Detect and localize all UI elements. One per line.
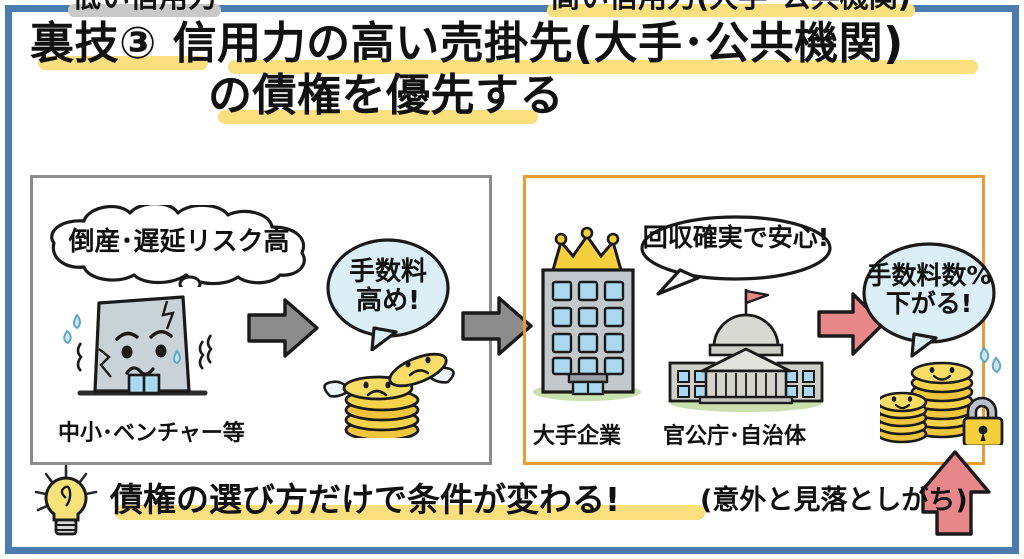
large-corporation-caption: 大手企業	[533, 418, 621, 450]
sad-coins-with-wings-icon	[320, 338, 460, 438]
high-fee-bubble-text: 手数料 高め!	[322, 258, 454, 316]
title-line-2: の債権を優先する	[208, 70, 990, 122]
page-title: 裏技③ 信用力の高い売掛先(大手･公共機関) の債権を優先する	[30, 18, 990, 122]
title-line-1: 裏技③ 信用力の高い売掛先(大手･公共機関)	[30, 18, 990, 70]
reliable-collection-bubble-text: 回収確実で安心!	[636, 224, 836, 252]
low-credit-thought-text: 倒産･遅延リスク高	[54, 228, 304, 257]
lightbulb-icon	[28, 462, 106, 540]
footer-note: (意外と見落としがち)	[700, 478, 968, 517]
small-company-caption: 中小･ベンチャー等	[58, 415, 245, 447]
small-company-building-icon	[55, 285, 220, 405]
happy-coins-with-lock-icon	[880, 340, 1008, 445]
government-building-caption: 官公庁･自治体	[663, 418, 806, 450]
footer-text: 債権の選び方だけで条件が変わる!	[110, 473, 620, 521]
large-corporation-building-icon	[527, 224, 649, 414]
fee-drop-bubble-text: 手数料数% 下がる!	[858, 262, 1000, 318]
infographic-canvas: 裏技③ 信用力の高い売掛先(大手･公共機関) の債権を優先する 低い信用力 倒産…	[0, 0, 1024, 559]
low-credit-panel-header: 低い信用力	[62, 0, 227, 16]
gray-right-arrow-icon	[245, 295, 321, 361]
high-credit-panel-header: 高い信用力(大手･公共機関)	[541, 0, 921, 16]
government-building-icon	[660, 285, 832, 417]
